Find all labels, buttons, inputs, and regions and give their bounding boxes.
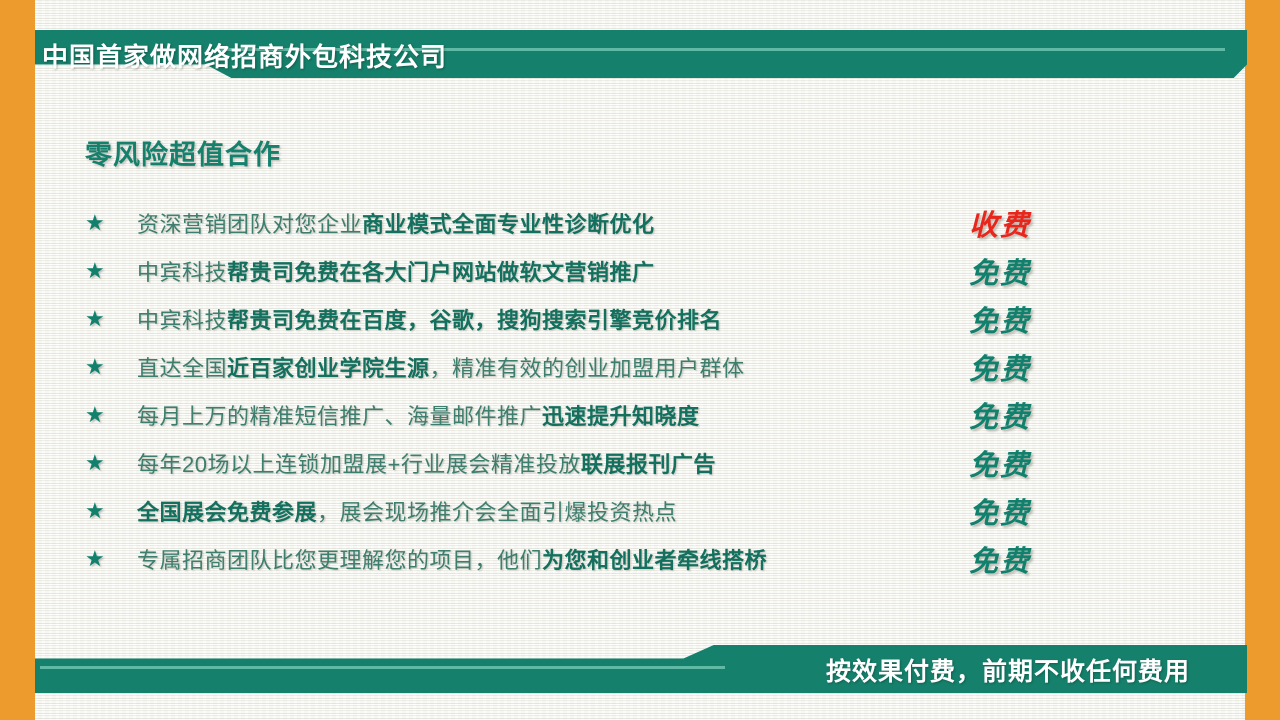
list-item-label: 每年20场以上连锁加盟展+行业展会精准投放联展报刊广告 [137, 447, 716, 479]
label-emphasis: 全国展会免费参展 [137, 500, 317, 525]
label-emphasis: 近百家创业学院生源 [227, 356, 430, 381]
price-badge: 免费 [945, 538, 1055, 580]
label-plain-lead: 直达全国 [137, 356, 227, 381]
list-item-label: 全国展会免费参展，展会现场推介会全面引爆投资热点 [137, 495, 677, 527]
list-item-label: 资深营销团队对您企业商业模式全面专业性诊断优化 [137, 207, 655, 239]
list-item: ★每年20场以上连锁加盟展+行业展会精准投放联展报刊广告免费 [85, 439, 1145, 487]
label-plain-lead: 每月上万的精准短信推广、海量邮件推广 [137, 404, 542, 429]
list-item: ★资深营销团队对您企业商业模式全面专业性诊断优化收费 [85, 199, 1145, 247]
star-icon: ★ [85, 308, 137, 330]
star-icon: ★ [85, 548, 137, 570]
footer-tagline: 按效果付费，前期不收任何费用 [0, 650, 1232, 690]
label-emphasis: 迅速提升知晓度 [542, 404, 700, 429]
list-item: ★每月上万的精准短信推广、海量邮件推广迅速提升知晓度免费 [85, 391, 1145, 439]
header-title: 中国首家做网络招商外包科技公司 [42, 36, 447, 74]
list-item-label: 每月上万的精准短信推广、海量邮件推广迅速提升知晓度 [137, 399, 700, 431]
list-item-label: 中宾科技帮贵司免费在百度，谷歌，搜狗搜索引擎竞价排名 [137, 303, 722, 335]
star-icon: ★ [85, 212, 137, 234]
price-badge: 免费 [945, 298, 1055, 340]
label-emphasis: 帮贵司免费在各大门户网站做软文营销推广 [227, 260, 655, 285]
price-badge: 免费 [945, 346, 1055, 388]
list-item-label: 中宾科技帮贵司免费在各大门户网站做软文营销推广 [137, 255, 655, 287]
price-badge: 免费 [945, 442, 1055, 484]
benefit-list: ★资深营销团队对您企业商业模式全面专业性诊断优化收费★中宾科技帮贵司免费在各大门… [85, 199, 1145, 583]
slide-root: 中国首家做网络招商外包科技公司 零风险超值合作 ★资深营销团队对您企业商业模式全… [0, 0, 1280, 720]
label-plain-tail: ，精准有效的创业加盟用户群体 [430, 356, 745, 381]
label-emphasis: 商业模式全面专业性诊断优化 [362, 212, 655, 237]
label-plain-lead: 专属招商团队比您更理解您的项目，他们 [137, 548, 542, 573]
star-icon: ★ [85, 500, 137, 522]
list-item-label: 专属招商团队比您更理解您的项目，他们为您和创业者牵线搭桥 [137, 543, 767, 575]
label-emphasis: 帮贵司免费在百度，谷歌，搜狗搜索引擎竞价排名 [227, 308, 722, 333]
label-emphasis: 联展报刊广告 [581, 452, 716, 477]
price-badge: 免费 [945, 394, 1055, 436]
label-plain-lead: 中宾科技 [137, 260, 227, 285]
price-badge: 收费 [945, 202, 1055, 244]
star-icon: ★ [85, 452, 137, 474]
price-badge: 免费 [945, 250, 1055, 292]
page-title: 零风险超值合作 [85, 133, 281, 172]
list-item: ★中宾科技帮贵司免费在各大门户网站做软文营销推广免费 [85, 247, 1145, 295]
label-plain-lead: 中宾科技 [137, 308, 227, 333]
star-icon: ★ [85, 356, 137, 378]
list-item-label: 直达全国近百家创业学院生源，精准有效的创业加盟用户群体 [137, 351, 745, 383]
list-item: ★中宾科技帮贵司免费在百度，谷歌，搜狗搜索引擎竞价排名免费 [85, 295, 1145, 343]
list-item: ★专属招商团队比您更理解您的项目，他们为您和创业者牵线搭桥免费 [85, 535, 1145, 583]
label-plain-lead: 每年20场以上连锁加盟展+行业展会精准投放 [137, 452, 581, 477]
label-plain-tail: ，展会现场推介会全面引爆投资热点 [317, 500, 677, 525]
label-emphasis: 为您和创业者牵线搭桥 [542, 548, 767, 573]
star-icon: ★ [85, 404, 137, 426]
star-icon: ★ [85, 260, 137, 282]
label-plain-lead: 资深营销团队对您企业 [137, 212, 362, 237]
list-item: ★全国展会免费参展，展会现场推介会全面引爆投资热点免费 [85, 487, 1145, 535]
price-badge: 免费 [945, 490, 1055, 532]
list-item: ★直达全国近百家创业学院生源，精准有效的创业加盟用户群体免费 [85, 343, 1145, 391]
